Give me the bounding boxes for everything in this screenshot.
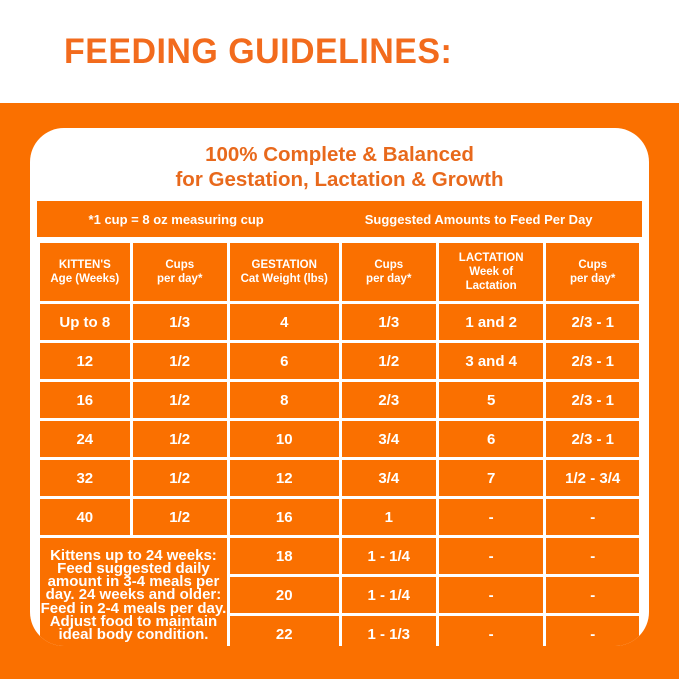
cell-gestation-weight: 4	[230, 304, 339, 340]
cell-kitten-cups: 1/2	[133, 499, 227, 535]
cell-lactation-week: 1 and 2	[439, 304, 543, 340]
cup-measurement-note: *1 cup = 8 oz measuring cup	[37, 212, 315, 227]
feeding-guidelines-table: KITTEN'S Age (Weeks) Cups per day* GESTA…	[37, 240, 642, 646]
cell-gestation-weight: 10	[230, 421, 339, 457]
cell-gestation-weight: 6	[230, 343, 339, 379]
cell-lactation-week: -	[439, 499, 543, 535]
table-row: Kittens up to 24 weeks: Feed suggested d…	[40, 538, 639, 574]
cell-gestation-cups: 1/3	[342, 304, 436, 340]
card-heading-line2: for Gestation, Lactation & Growth	[37, 167, 642, 192]
measurement-note-strip: *1 cup = 8 oz measuring cup Suggested Am…	[37, 201, 642, 237]
cell-kitten-cups: 1/2	[133, 343, 227, 379]
cell-gestation-weight: 18	[230, 538, 339, 574]
cell-kitten-cups: 1/2	[133, 382, 227, 418]
cell-kitten-age: 16	[40, 382, 130, 418]
table-row: 40 1/2 16 1 - -	[40, 499, 639, 535]
page-title: FEEDING GUIDELINES:	[64, 32, 452, 72]
table-row: 32 1/2 12 3/4 7 1/2 - 3/4	[40, 460, 639, 496]
table-row: 16 1/2 8 2/3 5 2/3 - 1	[40, 382, 639, 418]
cell-gestation-weight: 8	[230, 382, 339, 418]
orange-content-area: 100% Complete & Balanced for Gestation, …	[0, 103, 679, 679]
title-band: FEEDING GUIDELINES:	[0, 0, 679, 103]
cell-gestation-weight: 12	[230, 460, 339, 496]
cell-kitten-age: 12	[40, 343, 130, 379]
cell-lactation-week: -	[439, 577, 543, 613]
cell-gestation-cups: 3/4	[342, 421, 436, 457]
cell-kitten-cups: 1/2	[133, 421, 227, 457]
suggested-amounts-note: Suggested Amounts to Feed Per Day	[315, 212, 642, 227]
cell-lactation-week: 7	[439, 460, 543, 496]
cell-lactation-cups: -	[546, 577, 639, 613]
cell-lactation-cups: -	[546, 499, 639, 535]
feeding-footnote: Kittens up to 24 weeks: Feed suggested d…	[40, 538, 227, 646]
cell-gestation-weight: 22	[230, 616, 339, 646]
column-header-gestation-cups: Cups per day*	[342, 243, 436, 301]
cell-gestation-weight: 16	[230, 499, 339, 535]
cell-kitten-age: 24	[40, 421, 130, 457]
cell-lactation-week: -	[439, 616, 543, 646]
cell-kitten-age: 40	[40, 499, 130, 535]
cell-gestation-cups: 1 - 1/3	[342, 616, 436, 646]
cell-gestation-cups: 1 - 1/4	[342, 577, 436, 613]
cell-lactation-cups: -	[546, 538, 639, 574]
cell-lactation-cups: -	[546, 616, 639, 646]
cell-gestation-weight: 20	[230, 577, 339, 613]
cell-gestation-cups: 2/3	[342, 382, 436, 418]
card-heading: 100% Complete & Balanced for Gestation, …	[37, 134, 642, 201]
cell-gestation-cups: 1 - 1/4	[342, 538, 436, 574]
column-header-gestation-weight: GESTATION Cat Weight (lbs)	[230, 243, 339, 301]
cell-lactation-cups: 1/2 - 3/4	[546, 460, 639, 496]
column-header-kitten-age: KITTEN'S Age (Weeks)	[40, 243, 130, 301]
cell-lactation-cups: 2/3 - 1	[546, 382, 639, 418]
cell-lactation-week: 3 and 4	[439, 343, 543, 379]
column-header-kitten-cups: Cups per day*	[133, 243, 227, 301]
table-row: Up to 8 1/3 4 1/3 1 and 2 2/3 - 1	[40, 304, 639, 340]
cell-kitten-cups: 1/2	[133, 460, 227, 496]
table-row: 12 1/2 6 1/2 3 and 4 2/3 - 1	[40, 343, 639, 379]
cell-gestation-cups: 3/4	[342, 460, 436, 496]
table-row: 24 1/2 10 3/4 6 2/3 - 1	[40, 421, 639, 457]
cell-gestation-cups: 1/2	[342, 343, 436, 379]
cell-lactation-week: 5	[439, 382, 543, 418]
cell-kitten-cups: 1/3	[133, 304, 227, 340]
cell-kitten-age: 32	[40, 460, 130, 496]
cell-lactation-cups: 2/3 - 1	[546, 304, 639, 340]
cell-gestation-cups: 1	[342, 499, 436, 535]
cell-lactation-week: -	[439, 538, 543, 574]
card-heading-line1: 100% Complete & Balanced	[37, 142, 642, 167]
table-header-row: KITTEN'S Age (Weeks) Cups per day* GESTA…	[40, 243, 639, 301]
feeding-guidelines-card: 100% Complete & Balanced for Gestation, …	[30, 128, 649, 646]
cell-lactation-cups: 2/3 - 1	[546, 421, 639, 457]
cell-lactation-week: 6	[439, 421, 543, 457]
column-header-lactation-cups: Cups per day*	[546, 243, 639, 301]
cell-lactation-cups: 2/3 - 1	[546, 343, 639, 379]
column-header-lactation-week: LACTATION Week of Lactation	[439, 243, 543, 301]
cell-kitten-age: Up to 8	[40, 304, 130, 340]
